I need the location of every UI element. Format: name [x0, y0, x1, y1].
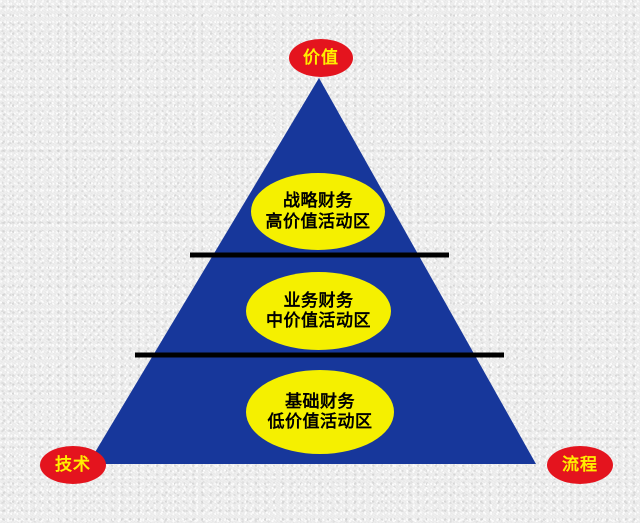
tier-node-strategic-finance-line1: 战略财务: [283, 191, 353, 211]
tier-node-basic-finance-line2: 低价值活动区: [268, 412, 373, 432]
tier-node-business-finance-line1: 业务财务: [284, 291, 354, 311]
tier-node-strategic-finance[interactable]: 战略财务 高价值活动区: [251, 173, 385, 250]
tier-node-basic-finance[interactable]: 基础财务 低价值活动区: [246, 370, 394, 454]
tier-node-business-finance-line2: 中价值活动区: [266, 311, 371, 331]
corner-node-bottom-right-label: 流程: [562, 455, 598, 475]
corner-node-bottom-left-label: 技术: [55, 455, 91, 475]
tier-node-business-finance[interactable]: 业务财务 中价值活动区: [246, 272, 391, 350]
tier-node-basic-finance-line1: 基础财务: [285, 392, 355, 412]
diagram-canvas: 价值 战略财务 高价值活动区 业务财务 中价值活动区 基础财务 低价值活动区 技…: [0, 0, 640, 523]
corner-node-top-value[interactable]: 价值: [289, 39, 353, 77]
corner-node-bottom-left-technology[interactable]: 技术: [40, 446, 106, 484]
tier-node-strategic-finance-line2: 高价值活动区: [266, 212, 371, 232]
corner-node-top-label: 价值: [303, 48, 339, 68]
corner-node-bottom-right-process[interactable]: 流程: [547, 446, 613, 484]
